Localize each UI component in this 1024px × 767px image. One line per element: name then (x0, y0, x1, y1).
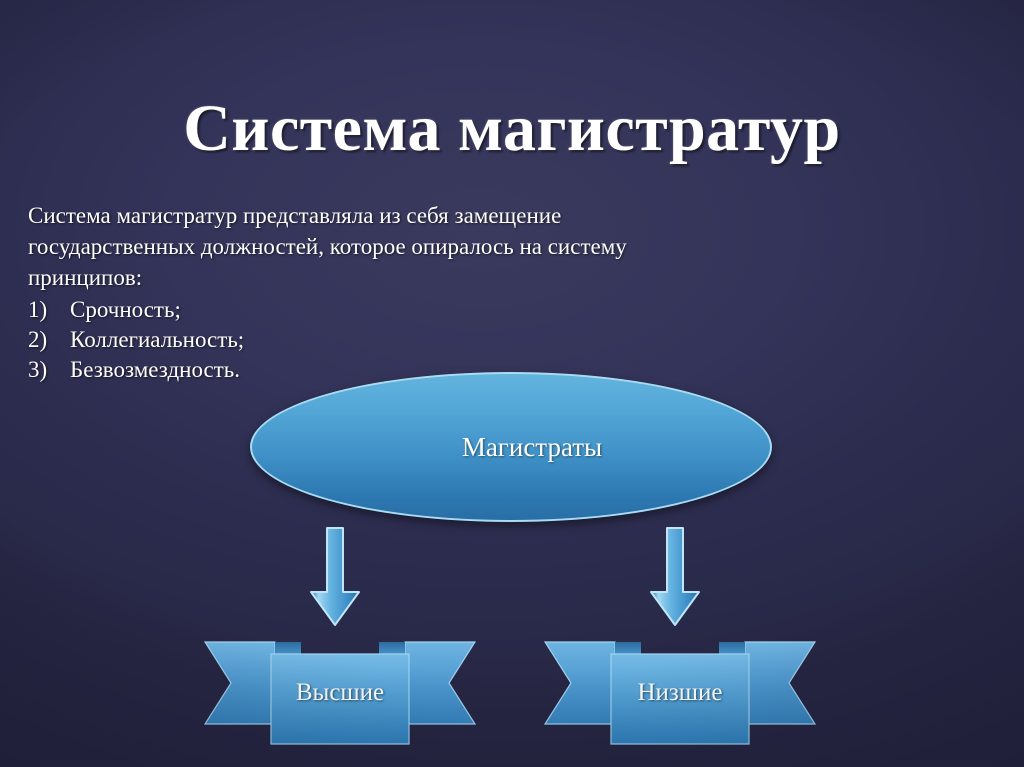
principle-number: 2) (28, 325, 70, 355)
principle-label: Безвозмездность. (70, 357, 240, 382)
diagram-node-ribbon-right[interactable]: Низшие (541, 632, 819, 754)
principle-item-2: 2)Коллегиальность; (28, 325, 728, 355)
ribbon-shape (201, 632, 479, 754)
diagram-node-ribbon-left[interactable]: Высшие (201, 632, 479, 754)
presentation-slide: Система магистратур Система магистратур … (0, 0, 1024, 767)
principle-label: Коллегиальность; (70, 327, 244, 352)
ellipse-label: Магистраты (250, 372, 772, 522)
slide-title: Система магистратур (0, 94, 1024, 163)
diagram-root-ellipse[interactable]: Магистраты (250, 372, 772, 522)
down-arrow-icon-left (307, 526, 363, 628)
principle-number: 3) (28, 355, 70, 385)
intro-paragraph: Система магистратур представляла из себя… (28, 200, 728, 293)
down-arrow-icon-right (647, 526, 703, 628)
ribbon-shape (541, 632, 819, 754)
slide-body-text: Система магистратур представляла из себя… (28, 200, 728, 385)
principle-number: 1) (28, 295, 70, 325)
principle-item-1: 1)Срочность; (28, 295, 728, 325)
principle-label: Срочность; (70, 297, 181, 322)
